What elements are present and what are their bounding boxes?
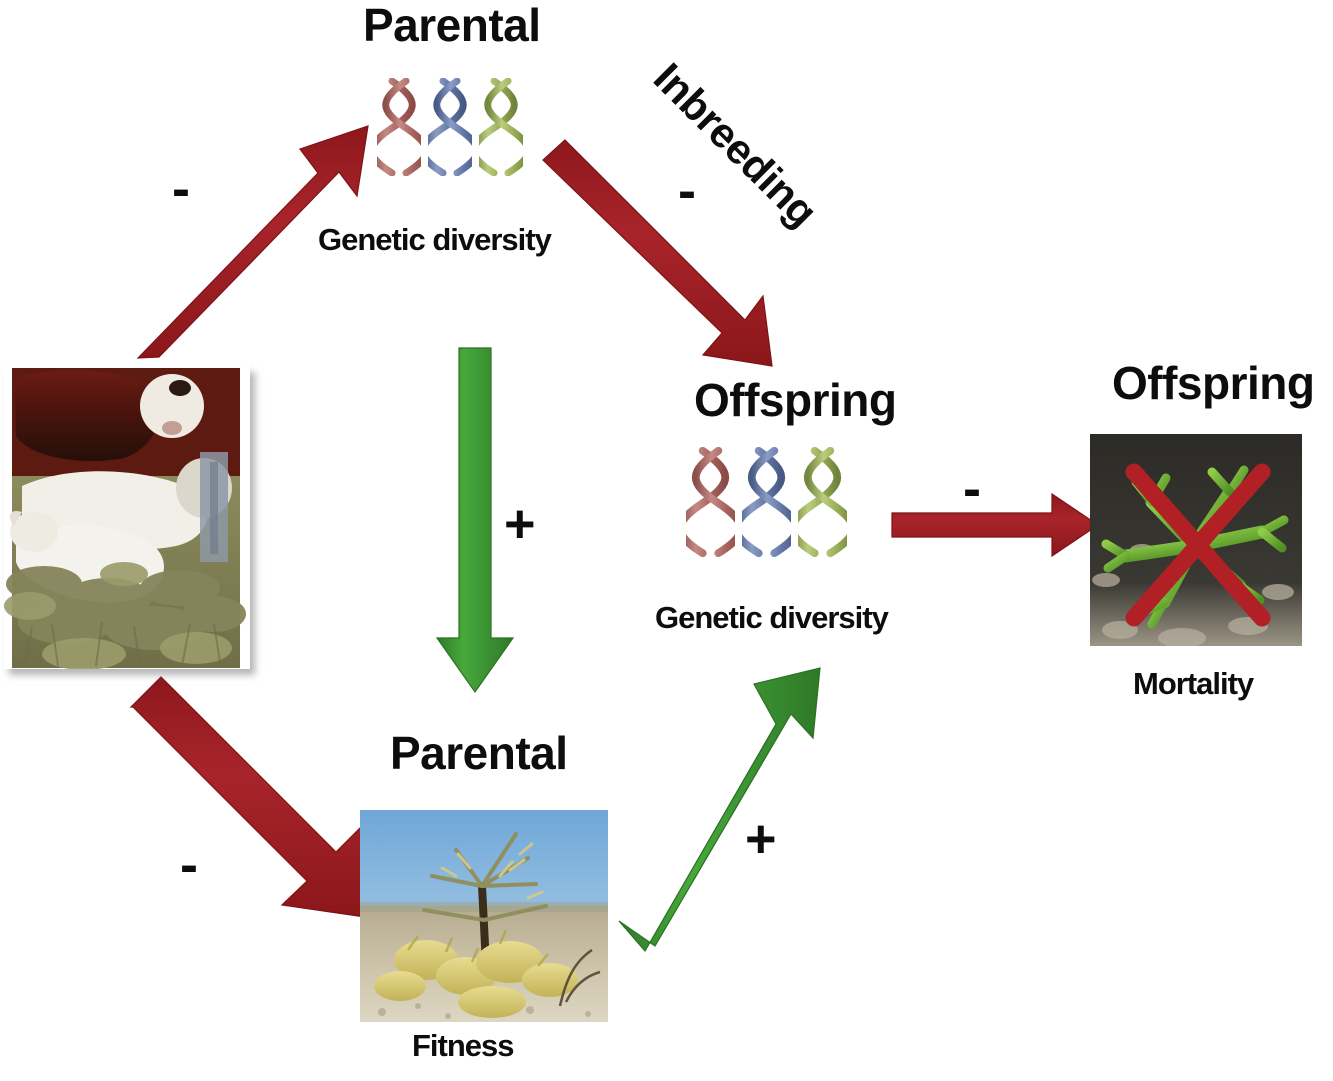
parental-diversity-title: Parental	[363, 2, 541, 48]
sign-livestock-to-fitness: -	[180, 838, 197, 892]
dna-helix-red-icon	[686, 447, 735, 557]
inbreeding-edge-label: Inbreeding	[646, 56, 824, 234]
sign-fitness-to-offspring-diversity: +	[745, 812, 776, 866]
parental-fitness-caption: Fitness	[412, 1030, 514, 1061]
dna-helix-blue-icon	[742, 447, 791, 557]
parental-dna-helix-trio	[377, 78, 523, 176]
dna-helix-blue-icon	[428, 78, 472, 176]
offspring-diversity-title: Offspring	[694, 377, 896, 423]
dna-helix-green-icon	[479, 78, 523, 176]
dna-helix-red-icon	[377, 78, 421, 176]
grazing-cattle-photo	[4, 366, 250, 669]
arrow-livestock-to-parental-fitness	[131, 677, 372, 918]
arrow-parental-fitness-to-offspring-diversity	[619, 668, 820, 951]
sign-livestock-to-parental-diversity: -	[172, 162, 189, 216]
offspring-mortality-caption: Mortality	[1133, 668, 1253, 699]
sign-offspring-diversity-to-mortality: -	[963, 462, 980, 516]
arrow-parental-diversity-to-parental-fitness	[437, 348, 513, 692]
arrow-offspring-diversity-to-offspring-mortality	[892, 494, 1098, 556]
desert-shrub-photo	[360, 810, 608, 1022]
offspring-diversity-caption: Genetic diversity	[655, 602, 888, 633]
sign-inbreeding: -	[678, 164, 695, 218]
dna-helix-green-icon	[798, 447, 847, 557]
dead-seedling-photo	[1090, 434, 1302, 646]
parental-fitness-title: Parental	[390, 730, 568, 776]
offspring-mortality-title: Offspring	[1112, 360, 1314, 406]
diagram-canvas: Parental	[0, 0, 1333, 1081]
sign-parental-diversity-to-fitness: +	[504, 497, 535, 551]
parental-diversity-caption: Genetic diversity	[318, 224, 551, 255]
offspring-dna-helix-trio	[686, 447, 847, 557]
